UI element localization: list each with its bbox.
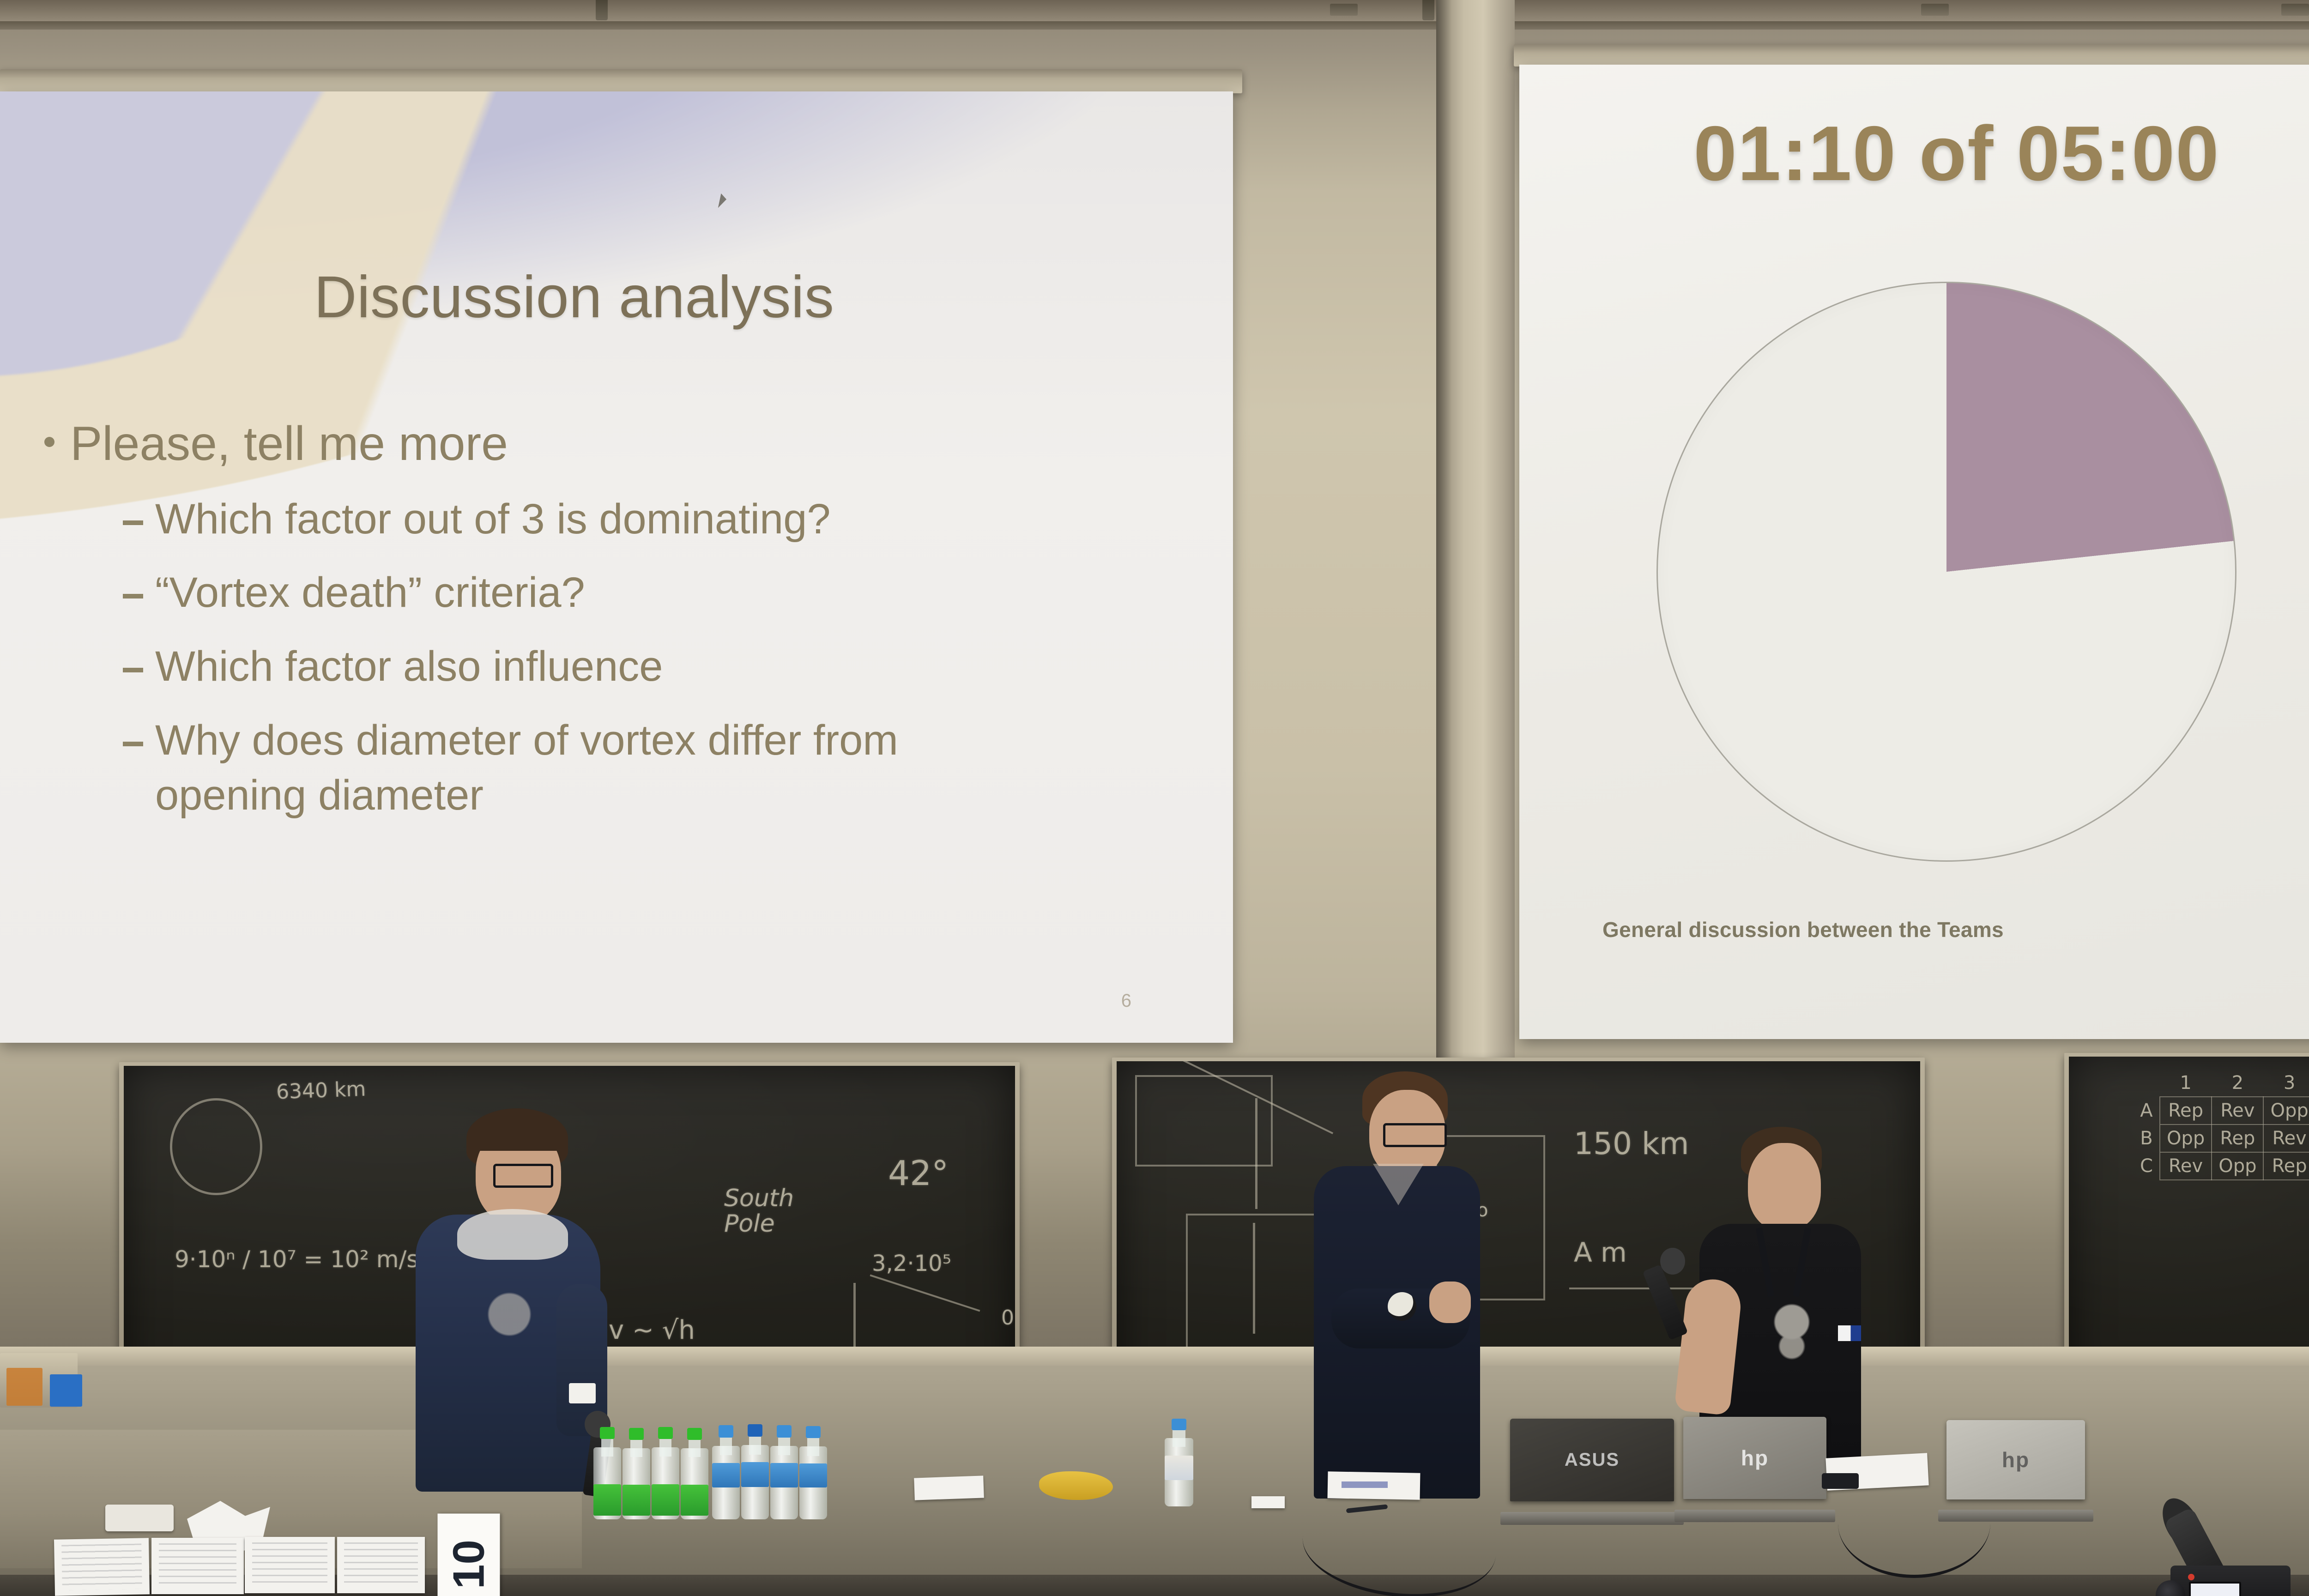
right-blackboard: 1 2 3 A Rep Rev Opp B Opp Rep Rev C Rev … <box>2069 1057 2309 1390</box>
bottle-cap <box>806 1426 820 1438</box>
bullet-dash-icon <box>123 742 143 746</box>
bottle-cap <box>777 1425 791 1438</box>
timer-pie-chart <box>1656 282 2234 859</box>
table-cell: Rep <box>2212 1124 2263 1152</box>
table-cell: Rev <box>2160 1152 2212 1180</box>
laptop-lid: ASUS <box>1510 1419 1674 1501</box>
pillar-shadow <box>1436 0 1452 1076</box>
bottle-neck <box>630 1437 642 1457</box>
bottle-cap <box>687 1428 701 1440</box>
chalk-note: South Pole <box>724 1186 821 1236</box>
paper-lines <box>252 1542 328 1588</box>
chalk-note: 0,2 <box>1001 1306 1015 1330</box>
flag-patch <box>1838 1325 1861 1341</box>
laptop-lid: hp <box>1683 1417 1826 1499</box>
bottle-label <box>593 1484 621 1516</box>
power-strip <box>105 1505 174 1531</box>
bottle-label <box>652 1484 679 1516</box>
glasses-icon <box>493 1164 553 1188</box>
water-bottle <box>712 1425 740 1519</box>
table-row: C Rev Opp Rep <box>2134 1152 2309 1180</box>
bottle-label <box>681 1485 708 1516</box>
laptop-base <box>1500 1512 1684 1525</box>
glasses-icon <box>1383 1123 1447 1147</box>
chalk-note: 150 km <box>1574 1126 1689 1161</box>
table-header-row: 1 2 3 <box>2134 1070 2309 1097</box>
laptop-hp-1[interactable]: hp <box>1683 1417 1826 1522</box>
table-col-header: 2 <box>2212 1070 2263 1097</box>
table-row: B Opp Rep Rev <box>2134 1124 2309 1152</box>
bottle-label <box>1165 1456 1193 1480</box>
water-bottle <box>652 1427 679 1519</box>
table-cell: Rev <box>2263 1124 2309 1152</box>
paper-sheet <box>1251 1496 1285 1508</box>
timer-caption: General discussion between the Teams <box>1602 917 2004 942</box>
person-opponent-middle <box>1314 1071 1485 1496</box>
bullet-dash-icon <box>123 520 143 525</box>
water-bottle <box>799 1426 827 1519</box>
hair-fringe <box>471 1118 566 1151</box>
bottle-neck <box>689 1437 701 1457</box>
ceiling-bracket-3 <box>2281 4 2309 16</box>
water-bottle-single <box>1165 1419 1193 1506</box>
bullet-sub-label: Which factor also influence <box>155 639 663 695</box>
jury-paper-3 <box>245 1537 335 1593</box>
tshirt-print <box>1762 1298 1822 1367</box>
table-cell: Rep <box>2160 1097 2212 1124</box>
ceiling-mount-2 <box>1422 0 1434 20</box>
bullet-sub-3: Which factor also influence <box>123 639 1196 695</box>
bottle-cap <box>748 1424 762 1437</box>
chalk-box-1 <box>1135 1075 1273 1167</box>
chalk-arrow-down-1 <box>1255 1098 1257 1209</box>
bullet-sub-1: Which factor out of 3 is dominating? <box>123 492 1196 547</box>
paper-mark <box>1342 1481 1388 1488</box>
slide-number: 6 <box>1121 991 1131 1011</box>
head <box>1748 1143 1821 1231</box>
person-reporter-left <box>406 1108 600 1492</box>
bottle-cap <box>1172 1419 1186 1430</box>
bullet-sub-label: Why does diameter of vortex differ from … <box>155 713 1046 823</box>
table-corner-cell <box>2134 1070 2160 1097</box>
bullet-dash-icon <box>123 668 143 672</box>
bottle-label <box>623 1485 650 1516</box>
score-card: 10 <box>438 1514 500 1596</box>
bullet-main-label: Please, tell me more <box>70 415 508 473</box>
chalk-note: 6340 km <box>276 1077 366 1104</box>
bullet-sub-label: Which factor out of 3 is dominating? <box>155 492 831 547</box>
desk-top-surface <box>0 1347 2309 1366</box>
water-bottle <box>741 1424 769 1519</box>
slide-body: Please, tell me more Which factor out of… <box>44 415 1196 823</box>
camera-lcd-screen <box>2189 1582 2241 1596</box>
bottle-cap <box>629 1428 643 1440</box>
bottle-neck <box>1173 1427 1185 1447</box>
chalk-note: 3,2·10⁵ <box>872 1251 951 1276</box>
bottle-label <box>799 1463 827 1488</box>
bottle-neck <box>807 1435 819 1456</box>
water-bottle <box>681 1428 708 1519</box>
water-bottle <box>623 1428 650 1519</box>
bottle-neck <box>659 1436 671 1457</box>
chalk-circle <box>170 1098 262 1195</box>
left-projection-screen: Discussion analysis Please, tell me more… <box>0 91 1233 1043</box>
table-row: A Rep Rev Opp <box>2134 1097 2309 1124</box>
paper-lines <box>159 1543 236 1589</box>
water-bottle <box>593 1427 621 1519</box>
chalk-note: A m <box>1574 1237 1627 1268</box>
bullet-sub-2: “Vortex death” criteria? <box>123 565 1196 621</box>
bottle-neck <box>720 1434 732 1455</box>
chalk-note: v ~ √h <box>609 1315 695 1345</box>
ceiling-mount-1 <box>596 0 608 20</box>
bullet-sub-4: Why does diameter of vortex differ from … <box>123 713 1196 823</box>
bottle-neck <box>749 1434 761 1455</box>
table-cell: Opp <box>2263 1097 2309 1124</box>
bottle-cap <box>719 1425 733 1438</box>
paper-lines <box>344 1542 418 1588</box>
hoodie-print <box>480 1288 545 1353</box>
right-projection-screen: 01:10 of 05:00 General discussion betwee… <box>1519 65 2309 1039</box>
jury-paper-4 <box>337 1537 425 1593</box>
ceiling-bracket-1 <box>1330 4 1358 16</box>
paper-lines <box>62 1544 142 1590</box>
table-cell: Rep <box>2263 1152 2309 1180</box>
wristwatch <box>1388 1292 1416 1321</box>
laptop-brand-label: hp <box>1741 1445 1769 1470</box>
table-row-label: B <box>2134 1124 2160 1152</box>
bottle-label <box>712 1463 740 1487</box>
page-title: Discussion analysis <box>314 263 834 331</box>
table-cell: Rev <box>2212 1097 2263 1124</box>
lecture-hall-scene: Discussion analysis Please, tell me more… <box>0 0 2309 1596</box>
table-row-label: A <box>2134 1097 2160 1124</box>
rotation-table: 1 2 3 A Rep Rev Opp B Opp Rep Rev C Rev … <box>2134 1070 2309 1180</box>
bottle-cap <box>600 1427 614 1439</box>
cable <box>1838 1469 1990 1578</box>
laptop-brand-label: hp <box>2002 1447 2030 1472</box>
ceiling-rail <box>0 21 2309 30</box>
right-screen-housing <box>1514 44 2309 66</box>
bottle-neck <box>601 1436 613 1457</box>
bullet-dot-icon <box>44 437 54 447</box>
laptop-asus[interactable]: ASUS <box>1510 1419 1674 1525</box>
chalk-note: 9·10ⁿ / 10⁷ = 10² m/s <box>175 1246 418 1273</box>
orange-box <box>6 1368 42 1406</box>
hand <box>1429 1282 1471 1323</box>
jury-paper-1 <box>54 1538 150 1596</box>
bottle-neck <box>778 1434 790 1455</box>
chalk-curve <box>870 1274 980 1312</box>
bottle-label <box>770 1463 798 1487</box>
bullet-dash-icon <box>123 594 143 598</box>
usb-device <box>1822 1473 1859 1489</box>
paper-sheet <box>914 1475 984 1500</box>
pie-slice-elapsed <box>1656 282 2236 862</box>
ceiling-bracket-2 <box>1921 4 1949 16</box>
laptop-brand-label: ASUS <box>1565 1450 1620 1470</box>
bottle-cap <box>658 1427 672 1439</box>
table-cell: Opp <box>2160 1124 2212 1152</box>
laptop-base <box>1674 1510 1835 1522</box>
bullet-sub-label: “Vortex death” criteria? <box>155 565 585 621</box>
water-bottle <box>770 1425 798 1519</box>
blue-folder <box>50 1374 82 1407</box>
chalk-arrow-down-2 <box>1253 1223 1255 1334</box>
jury-paper-2 <box>151 1538 244 1594</box>
bottle-label <box>741 1462 769 1487</box>
camera-record-light <box>2188 1574 2194 1580</box>
table-cell: Opp <box>2212 1152 2263 1180</box>
timer-readout: 01:10 of 05:00 <box>1519 109 2309 198</box>
microphone-head-icon <box>1660 1248 1685 1275</box>
table-col-header: 1 <box>2160 1070 2212 1097</box>
table-col-header: 3 <box>2263 1070 2309 1097</box>
bullet-main: Please, tell me more <box>44 415 1196 473</box>
badge <box>569 1383 596 1403</box>
chalk-curve-1 <box>1154 1061 1333 1134</box>
hoodie-hood <box>457 1209 568 1260</box>
left-screen-housing <box>0 69 1242 93</box>
chalk-note: 42° <box>888 1154 949 1193</box>
chalk-box-2 <box>1186 1214 1324 1356</box>
video-camera <box>2138 1492 2309 1596</box>
table-row-label: C <box>2134 1152 2160 1180</box>
